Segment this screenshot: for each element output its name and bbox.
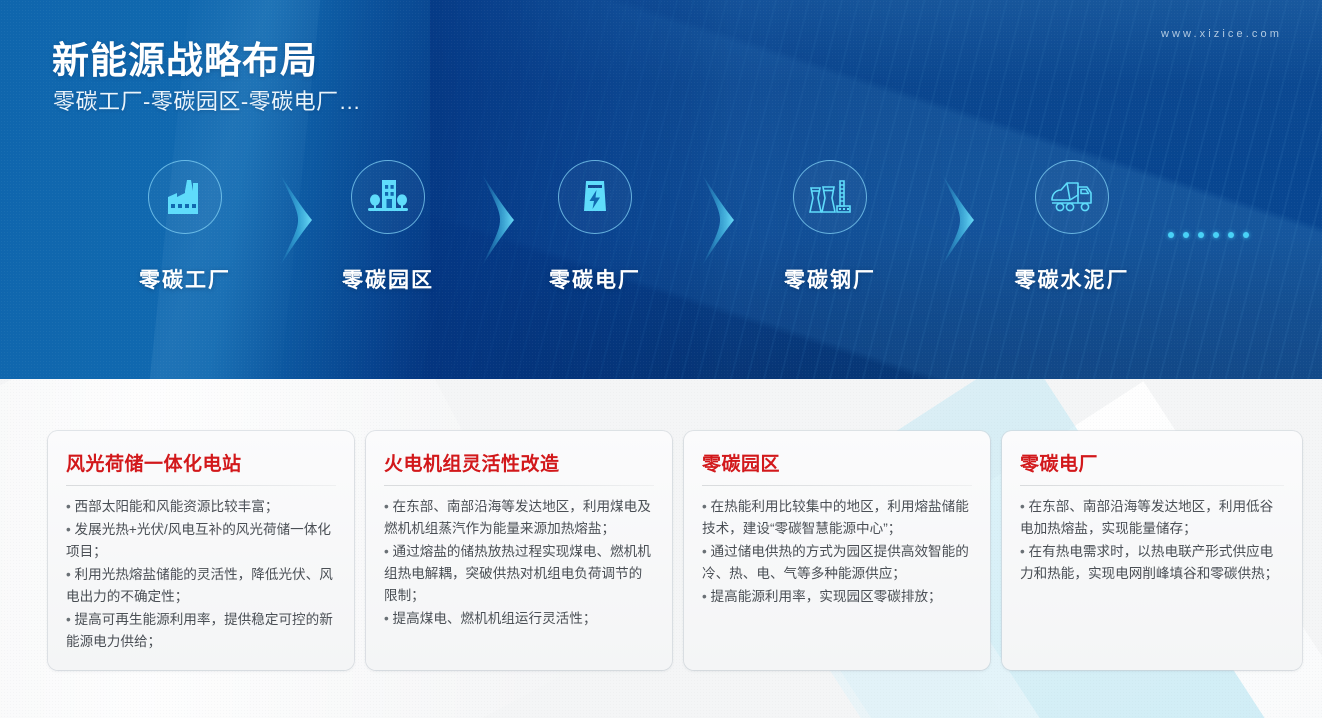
card-3-bullet-2: 通过储电供热的方式为园区提供高效智能的冷、热、电、气等多种能源供应； [702,541,972,585]
card-3-title: 零碳园区 [702,449,972,485]
card-2-bullet-1: 在东部、南部沿海等发达地区，利用煤电及燃机机组蒸汽作为能量来源加热熔盐； [384,496,654,540]
page-subtitle: 零碳工厂-零碳园区-零碳电厂… [53,84,361,116]
step-label-5: 零碳水泥厂 [997,264,1147,294]
card-3-divider [702,485,972,486]
dot-1 [1168,232,1174,238]
step-arrow-4 [940,174,982,266]
card-3-body: 在热能利用比较集中的地区，利用熔盐储能技术，建设“零碳智慧能源中心”； 通过储电… [702,496,972,608]
dot-5 [1228,232,1234,238]
step-label-1: 零碳工厂 [110,264,260,294]
dot-4 [1213,232,1219,238]
card-2-bullet-2: 通过熔盐的储热放热过程实现煤电、燃机机组热电解耦，突破供热对机组电负荷调节的限制… [384,541,654,607]
step-circle-5 [1035,160,1109,234]
step-circle-2 [351,160,425,234]
card-1-divider [66,485,336,486]
card-1[interactable]: 风光荷储一体化电站 西部太阳能和风能资源比较丰富； 发展光热+光伏/风电互补的风… [48,431,354,670]
card-2-title: 火电机组灵活性改造 [384,449,654,485]
step-circle-1 [148,160,222,234]
dot-2 [1183,232,1189,238]
card-2-bullet-3: 提高煤电、燃机机组运行灵活性； [384,608,654,630]
step-arrow-2 [480,174,522,266]
card-4[interactable]: 零碳电厂 在东部、南部沿海等发达地区，利用低谷电加热熔盐，实现能量储存； 在有热… [1002,431,1302,670]
step-arrow-3 [700,174,742,266]
step-label-2: 零碳园区 [313,264,463,294]
step-circle-4 [793,160,867,234]
dot-3 [1198,232,1204,238]
card-4-bullet-2: 在有热电需求时，以热电联产形式供应电力和热能，实现电网削峰填谷和零碳供热； [1020,541,1284,585]
card-4-title: 零碳电厂 [1020,449,1284,485]
steel-plant-icon [807,176,853,218]
card-1-title: 风光荷储一体化电站 [66,449,336,485]
step-item-2[interactable]: 零碳园区 [313,160,463,294]
step-label-4: 零碳钢厂 [755,264,905,294]
power-plant-bolt-icon [575,177,615,217]
card-4-bullet-1: 在东部、南部沿海等发达地区，利用低谷电加热熔盐，实现能量储存； [1020,496,1284,540]
card-3-bullet-1: 在热能利用比较集中的地区，利用熔盐储能技术，建设“零碳智慧能源中心”； [702,496,972,540]
site-watermark: www.xizice.com [1161,28,1282,40]
step-circle-3 [558,160,632,234]
card-4-divider [1020,485,1284,486]
step-item-1[interactable]: 零碳工厂 [110,160,260,294]
factory-icon [164,178,206,216]
slide-root: 新能源战略布局 零碳工厂-零碳园区-零碳电厂… www.xizice.com [0,0,1322,718]
card-3-bullet-3: 提高能源利用率，实现园区零碳排放； [702,586,972,608]
card-1-bullet-4: 提高可再生能源利用率，提供稳定可控的新能源电力供给； [66,609,336,653]
cement-mixer-truck-icon [1048,178,1096,216]
card-1-bullet-3: 利用光热熔盐储能的灵活性，降低光伏、风电出力的不确定性； [66,564,336,608]
trailing-dots [1168,232,1249,238]
card-1-body: 西部太阳能和风能资源比较丰富； 发展光热+光伏/风电互补的风光荷储一体化项目； … [66,496,336,653]
card-2-body: 在东部、南部沿海等发达地区，利用煤电及燃机机组蒸汽作为能量来源加热熔盐； 通过熔… [384,496,654,630]
process-steps: 零碳工厂 [0,160,1322,320]
step-item-3[interactable]: 零碳电厂 [520,160,670,294]
content-section: 风光荷储一体化电站 西部太阳能和风能资源比较丰富； 发展光热+光伏/风电互补的风… [0,379,1322,718]
card-2-divider [384,485,654,486]
step-item-4[interactable]: 零碳钢厂 [755,160,905,294]
card-1-bullet-1: 西部太阳能和风能资源比较丰富； [66,496,336,518]
card-list: 风光荷储一体化电站 西部太阳能和风能资源比较丰富； 发展光热+光伏/风电互补的风… [48,431,1302,670]
page-title: 新能源战略布局 [52,30,318,84]
card-1-bullet-2: 发展光热+光伏/风电互补的风光荷储一体化项目； [66,519,336,563]
card-3[interactable]: 零碳园区 在热能利用比较集中的地区，利用熔盐储能技术，建设“零碳智慧能源中心”；… [684,431,990,670]
industrial-park-icon [366,177,410,217]
step-item-5[interactable]: 零碳水泥厂 [997,160,1147,294]
hero-banner: 新能源战略布局 零碳工厂-零碳园区-零碳电厂… www.xizice.com [0,0,1322,379]
dot-6 [1243,232,1249,238]
card-4-body: 在东部、南部沿海等发达地区，利用低谷电加热熔盐，实现能量储存； 在有热电需求时，… [1020,496,1284,585]
card-2[interactable]: 火电机组灵活性改造 在东部、南部沿海等发达地区，利用煤电及燃机机组蒸汽作为能量来… [366,431,672,670]
step-label-3: 零碳电厂 [520,264,670,294]
